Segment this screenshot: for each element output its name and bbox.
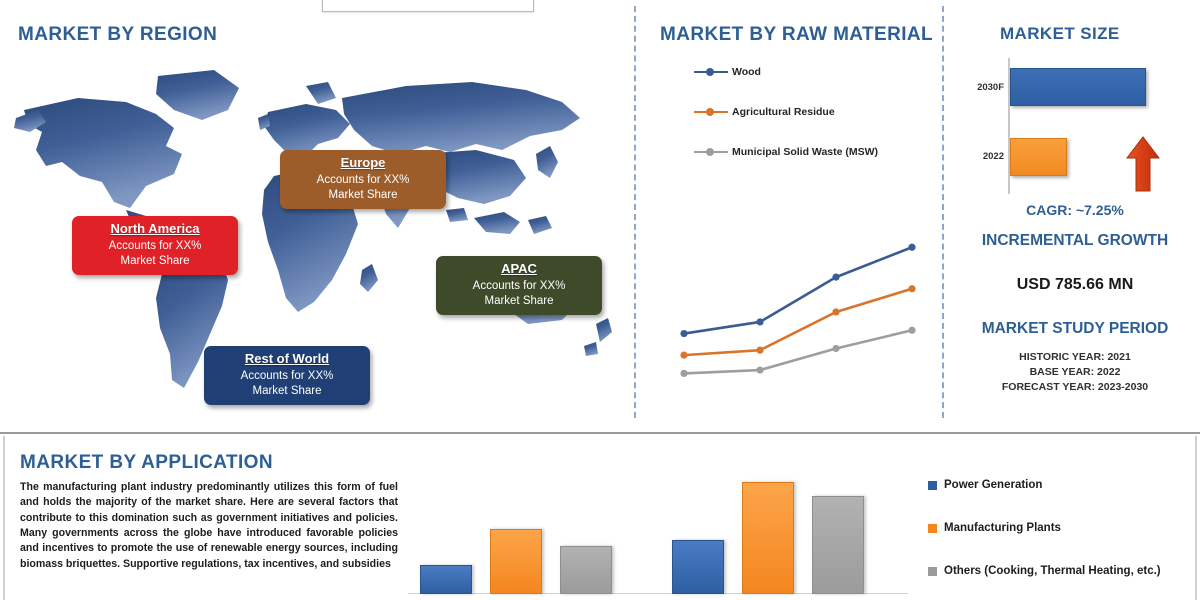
application-legend: Power Generation Manufacturing Plants Ot… (928, 478, 1190, 600)
region-card-europe-share-line2: Market Share (290, 188, 436, 202)
legend-item-others[interactable]: Others (Cooking, Thermal Heating, etc.) (928, 564, 1190, 579)
line-point (908, 327, 915, 334)
section-title-region: MARKET BY REGION (18, 24, 217, 46)
region-card-europe-name: Europe (290, 155, 436, 171)
section-title-raw-material: MARKET BY RAW MATERIAL (660, 24, 933, 46)
application-bar-chart (408, 440, 908, 600)
line-point (756, 347, 763, 354)
legend-swatch-manufacturing-plants-icon (928, 524, 937, 533)
application-bar-g1-manufacturing (490, 529, 542, 594)
line-series-0 (684, 247, 912, 333)
line-point (908, 244, 915, 251)
region-card-europe-share-line1: Accounts for XX% (290, 173, 436, 187)
market-size-bar-2030f (1010, 68, 1146, 106)
line-point (908, 285, 915, 292)
legend-label-manufacturing-plants: Manufacturing Plants (944, 521, 1061, 536)
region-card-rest-of-world-share-line1: Accounts for XX% (214, 369, 360, 383)
region-card-apac-share-line2: Market Share (446, 294, 592, 308)
horizontal-divider (0, 432, 1200, 434)
arrow-up-icon (1126, 136, 1160, 192)
incremental-growth-value: USD 785.66 MN (950, 276, 1200, 294)
legend-item-manufacturing-plants[interactable]: Manufacturing Plants (928, 521, 1190, 536)
application-bar-g1-power (420, 565, 472, 594)
incremental-growth-heading: INCREMENTAL GROWTH (950, 232, 1200, 250)
region-card-apac[interactable]: APAC Accounts for XX% Market Share (436, 256, 602, 315)
market-size-bar-2022 (1010, 138, 1067, 176)
panel-divider-left (634, 6, 636, 418)
legend-label-power-generation: Power Generation (944, 478, 1042, 493)
legend-label-others: Others (Cooking, Thermal Heating, etc.) (944, 564, 1161, 579)
line-point (756, 366, 763, 373)
forecast-year: FORECAST YEAR: 2023-2030 (950, 380, 1200, 395)
region-card-north-america-name: North America (82, 221, 228, 237)
market-study-period-heading: MARKET STUDY PERIOD (950, 320, 1200, 338)
region-card-apac-share-line1: Accounts for XX% (446, 279, 592, 293)
line-point (832, 345, 839, 352)
infographic-page: MARKET BY REGION (0, 0, 1200, 600)
market-size-panel: 2030F 2022 CAGR: ~7.25% INCREMENTAL GROW… (950, 52, 1200, 412)
market-size-label-2022: 2022 (954, 151, 1004, 162)
left-border (3, 436, 5, 600)
application-bar-g2-power (672, 540, 724, 594)
section-title-market-size: MARKET SIZE (1000, 24, 1120, 44)
market-size-label-2030f: 2030F (954, 82, 1004, 93)
world-map: Europe Accounts for XX% Market Share Nor… (6, 58, 626, 408)
market-size-bar-chart: 2030F 2022 (950, 52, 1200, 200)
application-paragraph: The manufacturing plant industry predomi… (20, 480, 398, 572)
cagr-value: CAGR: ~7.25% (950, 202, 1200, 218)
region-card-europe[interactable]: Europe Accounts for XX% Market Share (280, 150, 446, 209)
historic-year: HISTORIC YEAR: 2021 (950, 350, 1200, 365)
application-bar-g2-manufacturing (742, 482, 794, 594)
market-study-period-values: HISTORIC YEAR: 2021 BASE YEAR: 2022 FORE… (950, 350, 1200, 396)
region-card-apac-name: APAC (446, 261, 592, 277)
region-card-rest-of-world-name: Rest of World (214, 351, 360, 367)
line-point (832, 308, 839, 315)
region-card-north-america-share-line2: Market Share (82, 254, 228, 268)
line-point (680, 352, 687, 359)
base-year: BASE YEAR: 2022 (950, 365, 1200, 380)
application-bar-g2-others (812, 496, 864, 594)
raw-material-plot (648, 56, 936, 408)
right-border (1195, 436, 1197, 600)
raw-material-line-chart: Wood Agricultural Residue Municipal Soli… (648, 56, 936, 408)
line-point (756, 318, 763, 325)
top-callout-box (322, 0, 534, 12)
legend-swatch-others-icon (928, 567, 937, 576)
line-point (832, 274, 839, 281)
region-card-north-america-share-line1: Accounts for XX% (82, 239, 228, 253)
section-title-application: MARKET BY APPLICATION (20, 452, 273, 474)
legend-swatch-power-generation-icon (928, 481, 937, 490)
line-point (680, 330, 687, 337)
region-card-rest-of-world-share-line2: Market Share (214, 384, 360, 398)
legend-item-power-generation[interactable]: Power Generation (928, 478, 1190, 493)
region-card-north-america[interactable]: North America Accounts for XX% Market Sh… (72, 216, 238, 275)
region-card-rest-of-world[interactable]: Rest of World Accounts for XX% Market Sh… (204, 346, 370, 405)
application-bar-g1-others (560, 546, 612, 594)
line-point (680, 370, 687, 377)
panel-divider-right (942, 6, 944, 418)
